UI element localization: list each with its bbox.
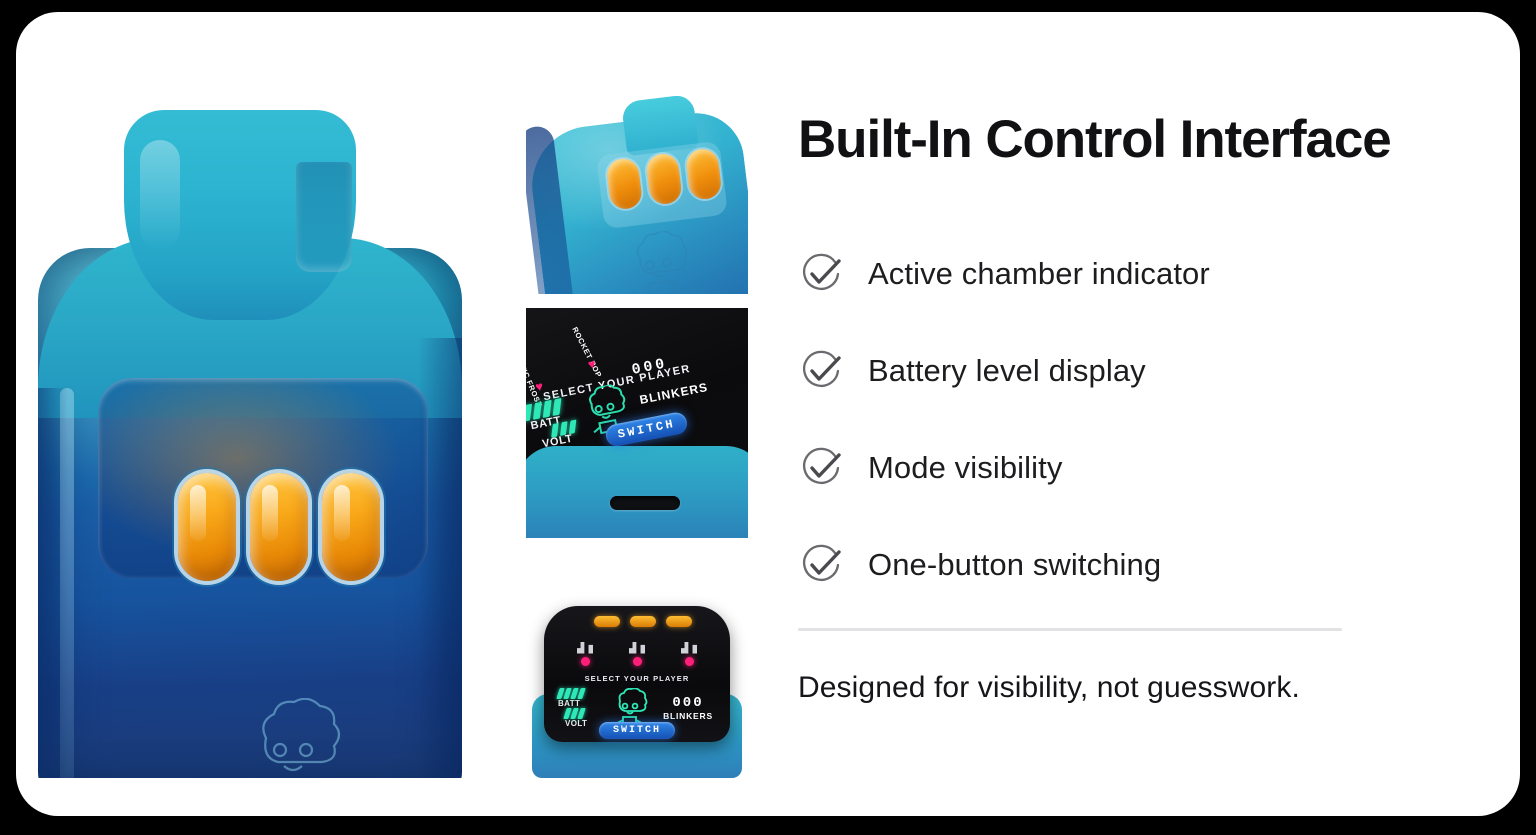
chamber-pod [630,616,656,627]
feature-item-active-chamber-indicator: Active chamber indicator [798,226,1498,323]
feature-list: Active chamber indicator Battery level d… [798,226,1498,614]
check-circle-icon [798,542,844,588]
chamber-pod [250,473,308,581]
thumbnail-display-front[interactable]: SELECT YOUR PLAYER BATT VOLT [526,588,748,778]
hero-edge-shading-left [38,388,68,778]
chamber-pod [322,473,380,581]
feature-label: Mode visibility [868,450,1062,486]
check-circle-icon [798,348,844,394]
flavor-bars-icon [629,642,645,654]
feature-item-mode-visibility: Mode visibility [798,420,1498,517]
feature-label: Active chamber indicator [868,256,1210,292]
mascot-emboss-icon [234,698,350,778]
mascot-emboss-icon [617,228,700,294]
switch-button[interactable]: SWITCH [599,722,675,739]
chamber-pod [178,473,236,581]
chamber-pod [666,616,692,627]
hero-mouthpiece [124,110,356,320]
voltage-label: VOLT [565,719,600,728]
panel-flavor-indicators [570,642,704,666]
thumbnail-column: ARCTIC FROST ♥ ROCKET POP ♥ SELECT YOUR … [526,96,748,778]
battery-bars [556,688,602,699]
flavor-indicator [674,642,704,666]
hero-product-image[interactable] [38,88,462,778]
check-circle-icon [798,445,844,491]
flavor-indicator [622,642,652,666]
copy-panel: Built-In Control Interface Active chambe… [798,112,1498,705]
blinkers-counter-digits: 000 [660,695,716,711]
feature-item-battery-level-display: Battery level display [798,323,1498,420]
footnote-text: Designed for visibility, not guesswork. [798,671,1498,705]
feature-label: One-button switching [868,547,1161,583]
chamber-pod [645,152,683,206]
blinkers-label: BLINKERS [638,380,709,407]
chamber-pod [605,157,643,211]
panel-battery-block: BATT VOLT [558,688,600,728]
page-title: Built-In Control Interface [798,112,1498,168]
thumbnail-display-closeup[interactable]: ARCTIC FROST ♥ ROCKET POP ♥ SELECT YOUR … [526,308,748,537]
blinkers-label: BLINKERS [660,711,716,721]
panel-blinkers-block: 000 BLINKERS [660,695,716,721]
product-feature-card: ARCTIC FROST ♥ ROCKET POP ♥ SELECT YOUR … [16,12,1520,816]
flavor-marker-icon [633,657,642,666]
section-divider [798,628,1342,631]
hero-edge-shading-right [418,338,462,778]
flavor-bars-icon [681,642,697,654]
panel-chamber-pods [594,616,692,627]
battery-label: BATT [558,699,600,708]
flavor-marker-icon [581,657,590,666]
hero-chamber-pods [178,473,380,581]
flavor-marker-icon [685,657,694,666]
chamber-pod [594,616,620,627]
hero-mouthpiece-tab [296,162,352,272]
voltage-bars [563,708,602,719]
chamber-pod [685,147,723,201]
feature-item-one-button-switching: One-button switching [798,517,1498,614]
select-player-label: SELECT YOUR PLAYER [544,674,730,683]
check-circle-icon [798,251,844,297]
flavor-indicator [570,642,600,666]
feature-label: Battery level display [868,353,1146,389]
thumb-control-panel: SELECT YOUR PLAYER BATT VOLT [544,606,730,742]
voltage-label: VOLT [541,433,574,451]
thumbnail-angled-device[interactable] [526,96,748,294]
flavor-bars-icon [577,642,593,654]
flavor-label-rocket-pop: ROCKET POP [570,326,603,380]
thumb-screen-content: ARCTIC FROST ♥ ROCKET POP ♥ SELECT YOUR … [526,308,748,537]
